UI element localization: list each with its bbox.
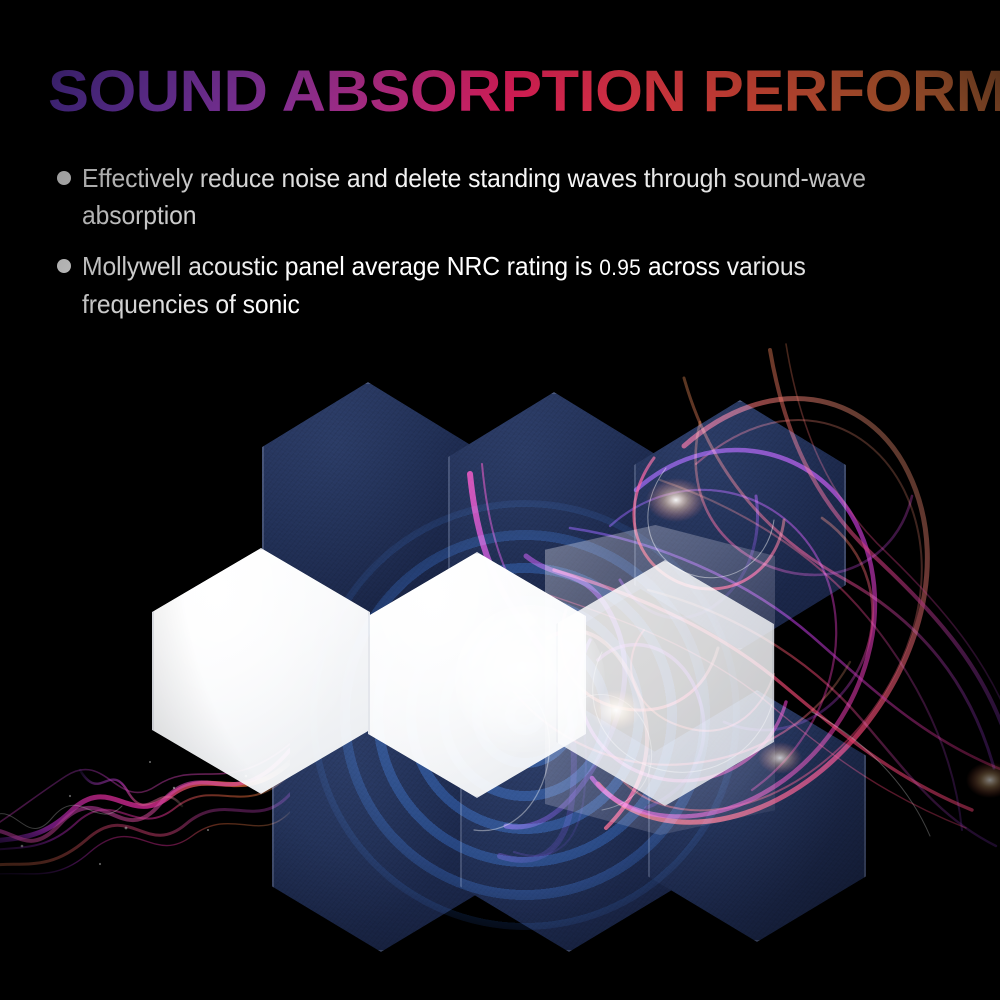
glass-overlay-pane [545, 525, 775, 835]
nrc-rating-value: 0.95 [599, 255, 641, 280]
product-artwork [0, 330, 1000, 1000]
bullet-dot-icon [57, 259, 71, 273]
header: SOUND ABSORPTION PERFORMANCE Effectively… [0, 0, 1000, 340]
bullet-item-2-text: Mollywell acoustic panel average NRC rat… [82, 248, 909, 323]
page-title: SOUND ABSORPTION PERFORMANCE [48, 62, 1000, 122]
bullet-dot-icon [57, 171, 71, 185]
bullet-item-1-text: Effectively reduce noise and delete stan… [82, 160, 909, 234]
bullet-item-1: Effectively reduce noise and delete stan… [52, 160, 952, 234]
bullet-item-2: Mollywell acoustic panel average NRC rat… [52, 248, 952, 323]
bullet-item-2-text-before: Mollywell acoustic panel average NRC rat… [82, 251, 592, 281]
